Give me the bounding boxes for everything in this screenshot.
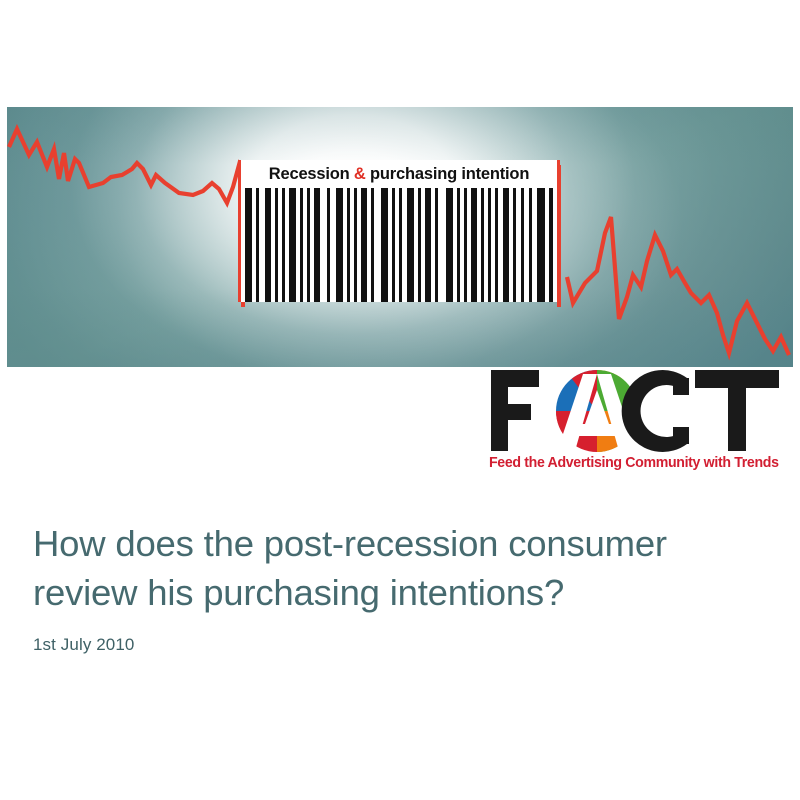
barcode-title-word-2: purchasing intention bbox=[370, 165, 529, 183]
barcode-right-red-bar bbox=[557, 160, 560, 302]
recession-banner-image: Recession & purchasing intention bbox=[7, 107, 793, 367]
slide-date: 1st July 2010 bbox=[33, 635, 763, 655]
logo-letter-t bbox=[695, 370, 779, 451]
barcode-title: Recession & purchasing intention bbox=[241, 165, 557, 184]
recession-line-right bbox=[567, 217, 789, 355]
barcode-title-ampersand: & bbox=[354, 165, 366, 183]
slide-canvas: Recession & purchasing intention bbox=[0, 0, 800, 800]
fact-logo: Feed the Advertising Community with Tren… bbox=[487, 368, 787, 476]
recession-line-left bbox=[9, 129, 245, 203]
barcode-panel: Recession & purchasing intention bbox=[241, 160, 557, 302]
barcode-title-word-1: Recession bbox=[269, 165, 350, 183]
barcode-bars bbox=[241, 188, 557, 302]
fact-logo-tagline: Feed the Advertising Community with Tren… bbox=[489, 455, 778, 471]
logo-letter-f bbox=[491, 370, 539, 451]
slide-title: How does the post-recession consumer rev… bbox=[33, 520, 763, 617]
fact-logo-letters bbox=[487, 368, 787, 453]
title-block: How does the post-recession consumer rev… bbox=[33, 520, 763, 655]
